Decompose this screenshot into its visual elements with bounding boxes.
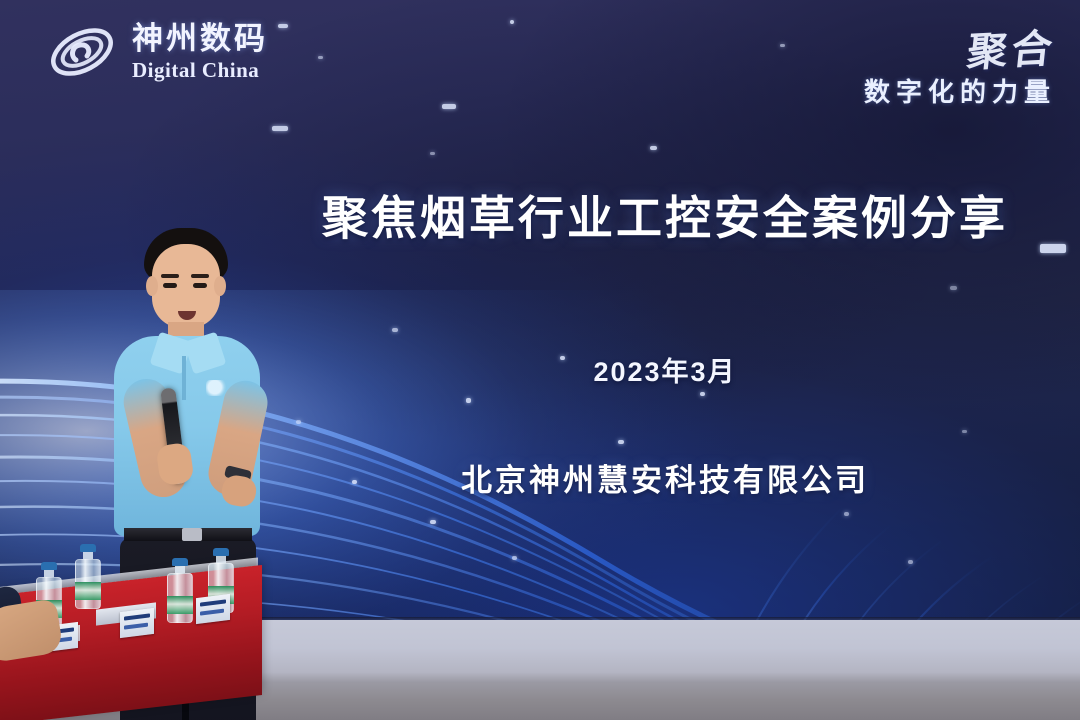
name-card-line bbox=[200, 599, 226, 606]
bottle-cap bbox=[172, 558, 188, 566]
speaker-eye-right bbox=[193, 283, 207, 288]
water-bottle bbox=[75, 544, 101, 609]
bottle-neck bbox=[44, 570, 54, 577]
brand-name-en: Digital China bbox=[132, 60, 268, 81]
bottle-neck bbox=[216, 556, 226, 563]
name-card-line bbox=[200, 609, 224, 616]
conference-photo: 神州数码 Digital China 聚合 数字化的力量 聚焦烟草行业工控安全案… bbox=[0, 0, 1080, 720]
slide-company: 北京神州慧安科技有限公司 bbox=[310, 455, 1020, 500]
event-calligraphy: 聚合 bbox=[965, 16, 1060, 79]
event-tagline: 数字化的力量 bbox=[864, 72, 1056, 109]
bottle-label bbox=[75, 582, 101, 600]
speaker-eye-left bbox=[163, 283, 177, 288]
speaker-ear-left bbox=[146, 276, 158, 296]
belt-buckle bbox=[182, 528, 202, 541]
name-card-line bbox=[124, 623, 148, 630]
bottle-neck bbox=[175, 566, 185, 573]
speaker-shirt-placket bbox=[182, 356, 186, 400]
speaker-ear-right bbox=[214, 276, 226, 296]
slide-date: 2023年3月 bbox=[310, 350, 1020, 389]
water-bottle bbox=[167, 558, 193, 623]
digital-china-swirl-icon bbox=[46, 20, 118, 84]
name-card bbox=[196, 594, 230, 624]
bottle-neck bbox=[83, 552, 93, 559]
event-branding: 聚合 数字化的力量 bbox=[864, 18, 1056, 109]
bottle-body bbox=[75, 559, 101, 609]
speaker-brow-right bbox=[191, 274, 209, 278]
name-card bbox=[120, 608, 154, 638]
bottle-cap bbox=[213, 548, 229, 556]
speaker-brow-left bbox=[161, 274, 179, 278]
brand-name-cn: 神州数码 bbox=[132, 23, 268, 54]
bottle-cap bbox=[80, 544, 96, 552]
bottle-label bbox=[167, 596, 193, 614]
bottle-body bbox=[167, 573, 193, 623]
bottle-cap bbox=[41, 562, 57, 570]
name-card-line bbox=[124, 613, 150, 620]
digital-china-logo: 神州数码 Digital China bbox=[46, 20, 268, 84]
